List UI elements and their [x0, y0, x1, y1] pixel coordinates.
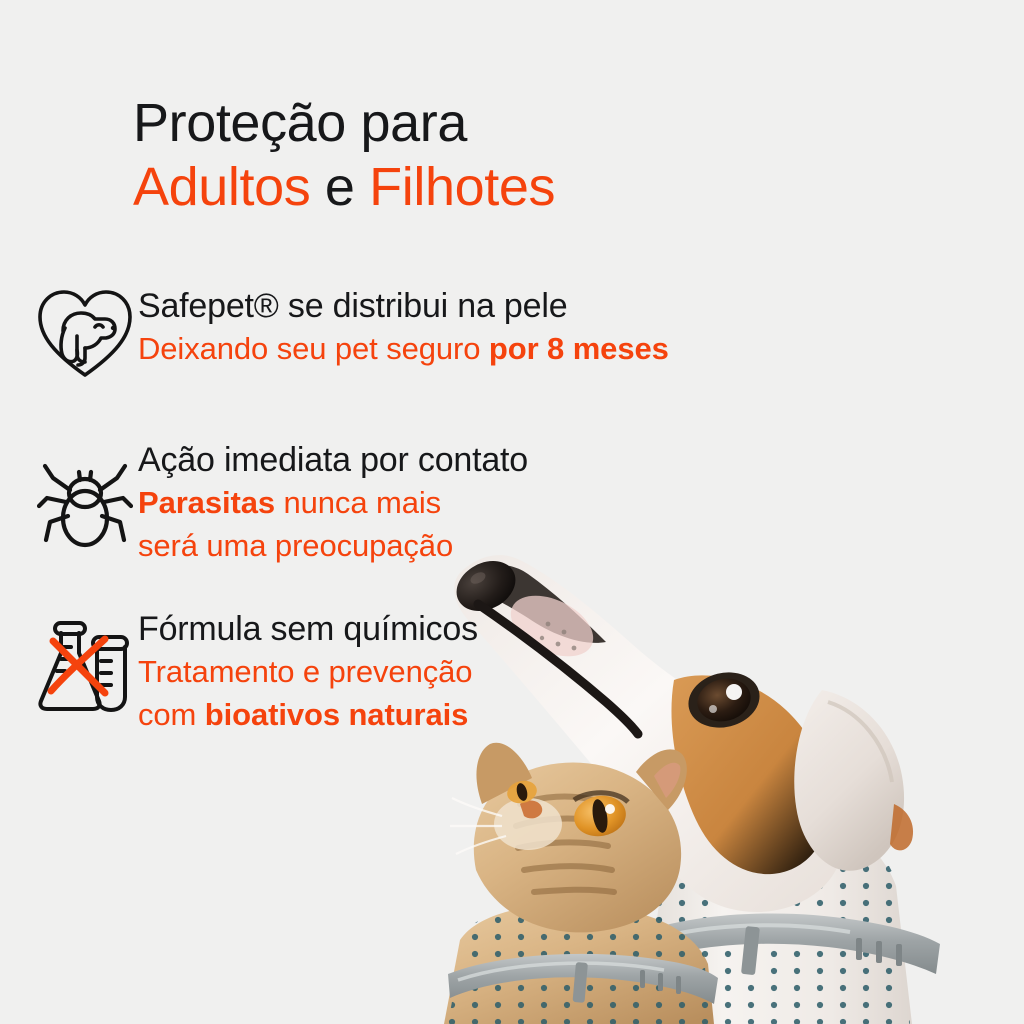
- tick-parasite-icon: [32, 460, 138, 566]
- headline: Proteção para Adultos e Filhotes: [133, 96, 555, 214]
- feature-subtitle: Deixando seu pet seguro por 8 meses: [138, 329, 669, 369]
- feature-subtitle-line-2: com bioativos naturais: [138, 695, 478, 735]
- headline-adultos: Adultos: [133, 157, 310, 217]
- no-chemicals-flask-icon: [32, 617, 138, 723]
- feature-title: Ação imediata por contato: [138, 440, 528, 480]
- feature-item-immediate-action: Ação imediata por contato Parasitas nunc…: [0, 438, 860, 567]
- headline-line-2: Adultos e Filhotes: [133, 160, 555, 214]
- feature-sub-bold: bioativos naturais: [205, 697, 469, 732]
- feature-list: Safepet® se distribui na pele Deixando s…: [0, 284, 860, 781]
- feature-sub-bold: Parasitas: [138, 485, 275, 520]
- feature-item-skin-distribution: Safepet® se distribui na pele Deixando s…: [0, 284, 860, 392]
- headline-filhotes: Filhotes: [369, 157, 555, 217]
- headline-conjunction: e: [310, 157, 369, 217]
- feature-title: Fórmula sem químicos: [138, 609, 478, 649]
- cat-collar: [448, 954, 718, 1004]
- feature-text: Safepet® se distribui na pele Deixando s…: [138, 284, 669, 369]
- feature-subtitle-line-2: será uma preocupação: [138, 526, 528, 566]
- heart-dog-icon: [32, 286, 138, 392]
- headline-line-1: Proteção para: [133, 96, 555, 150]
- feature-text: Ação imediata por contato Parasitas nunc…: [138, 438, 528, 567]
- cat-figure: [440, 743, 730, 1024]
- feature-text: Fórmula sem químicos Tratamento e preven…: [138, 607, 478, 736]
- feature-sub-bold: por 8 meses: [489, 331, 669, 366]
- feature-title: Safepet® se distribui na pele: [138, 286, 669, 326]
- feature-sub-plain: nunca mais: [275, 485, 441, 520]
- dog-collar: [630, 913, 940, 975]
- promo-poster: Proteção para Adultos e Filhotes: [0, 0, 1024, 1024]
- feature-sub-plain: Deixando seu pet seguro: [138, 331, 489, 366]
- feature-subtitle-line-1: Parasitas nunca mais: [138, 483, 528, 523]
- feature-subtitle-line-1: Tratamento e prevenção: [138, 652, 478, 692]
- feature-sub-plain: com: [138, 697, 205, 732]
- feature-item-no-chemicals: Fórmula sem químicos Tratamento e preven…: [0, 607, 860, 736]
- cat-eye: [571, 792, 629, 840]
